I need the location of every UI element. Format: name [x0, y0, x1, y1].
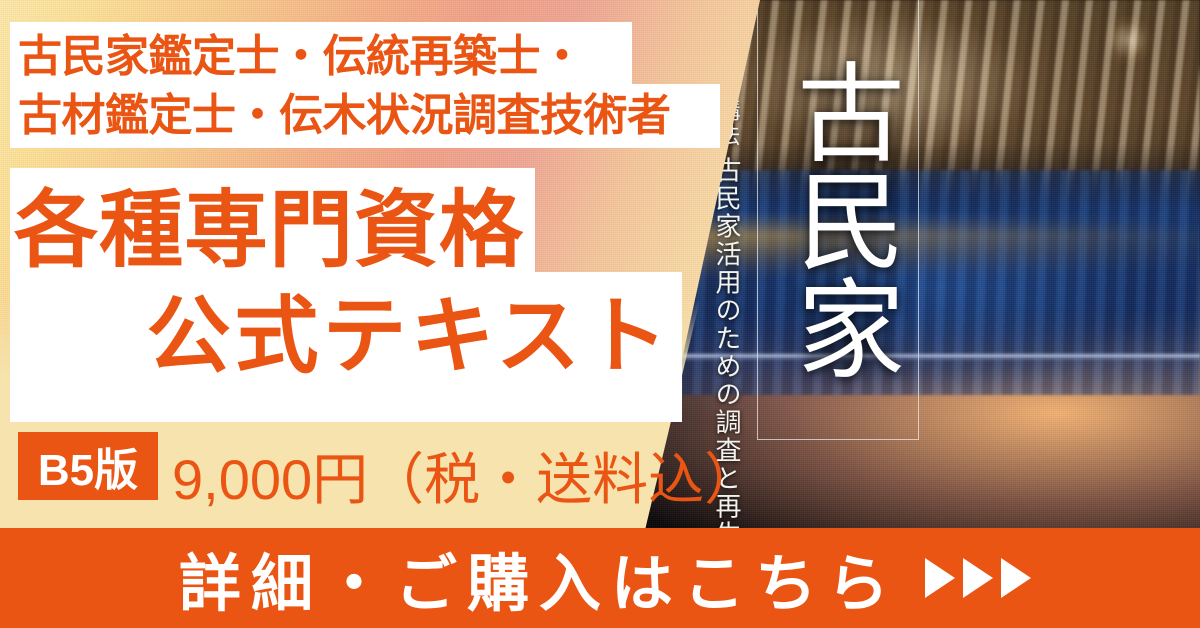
- price-text: 9,000円（税・送料込）: [172, 435, 760, 516]
- format-badge: B5版: [18, 432, 158, 500]
- qualifications-text: 古民家鑑定士・伝統再築士・ 古材鑑定士・伝木状況調査技術者: [18, 28, 718, 146]
- main-headline: 各種専門資格 公式テキスト: [14, 178, 694, 390]
- qualifications-line-1: 古民家鑑定士・伝統再築士・: [18, 28, 718, 87]
- promo-banner: 古民家 伝統構法 古民家活用のための調査と再生の 古民家鑑定士・伝統再築士・ 古…: [0, 0, 1200, 628]
- triangle-right-icon: [1001, 558, 1031, 598]
- main-headline-line-2: 公式テキスト: [14, 284, 694, 390]
- triangle-right-icon: [925, 558, 955, 598]
- main-headline-line-1: 各種専門資格: [14, 178, 694, 284]
- cta-label: 詳細・ご購入はこちら: [169, 533, 899, 623]
- triangle-right-icon: [963, 558, 993, 598]
- qualifications-line-2: 古材鑑定士・伝木状況調査技術者: [18, 87, 718, 146]
- cta-arrow-group: [925, 558, 1031, 598]
- cta-bar[interactable]: 詳細・ご購入はこちら: [0, 528, 1200, 628]
- book-cover-title: 古民家: [770, 14, 906, 424]
